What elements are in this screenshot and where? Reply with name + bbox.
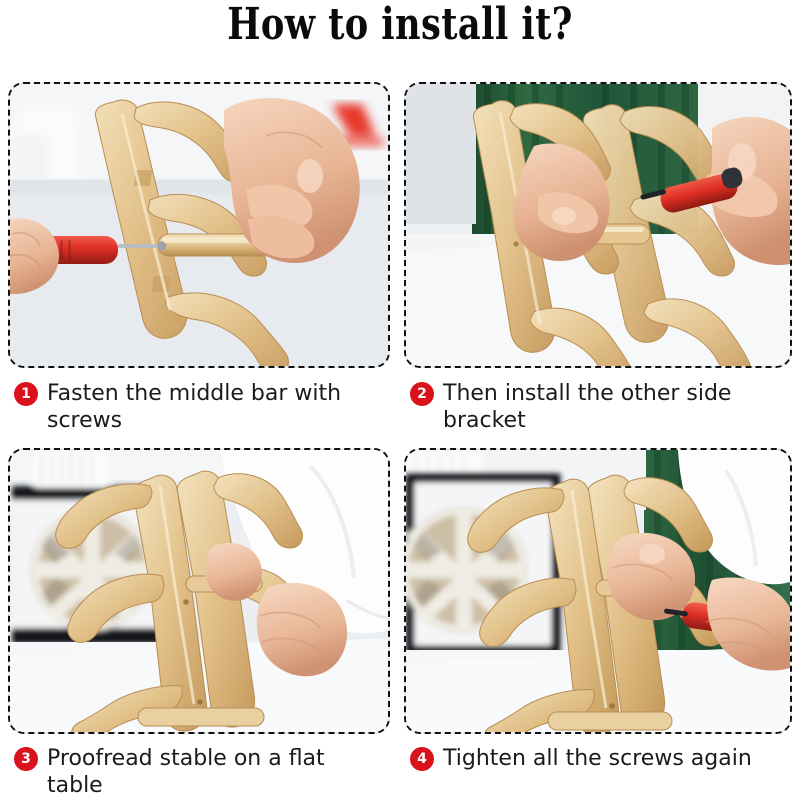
step-2-image (406, 84, 790, 366)
step-4-photo-panel (404, 448, 792, 734)
step-1-photo-panel (8, 82, 390, 368)
step-4-badge: 4 (410, 747, 434, 771)
step-3-badge: 3 (14, 747, 38, 771)
step-3-caption-text: Proofread stable on a flat table (47, 745, 384, 799)
step-2-badge: 2 (410, 382, 434, 406)
step-4-caption-text: Tighten all the screws again (443, 745, 790, 772)
page-title: How to install it? (80, 0, 720, 56)
step-3-caption: 3 Proofread stable on a flat table (14, 745, 384, 799)
step-1-caption: 1 Fasten the middle bar with screws (14, 380, 384, 434)
step-1-caption-text: Fasten the middle bar with screws (47, 380, 384, 434)
step-1-badge: 1 (14, 382, 38, 406)
step-2-caption: 2 Then install the other side bracket (410, 380, 790, 434)
step-2-photo-panel (404, 82, 792, 368)
step-2-caption-text: Then install the other side bracket (443, 380, 790, 434)
step-1-image (10, 84, 388, 366)
background-object (10, 106, 78, 188)
step-4-image (406, 450, 790, 732)
step-3-image (10, 450, 388, 732)
instruction-page: How to install it? (0, 0, 800, 800)
step-4-caption: 4 Tighten all the screws again (410, 745, 790, 772)
step-3-photo-panel (8, 448, 390, 734)
